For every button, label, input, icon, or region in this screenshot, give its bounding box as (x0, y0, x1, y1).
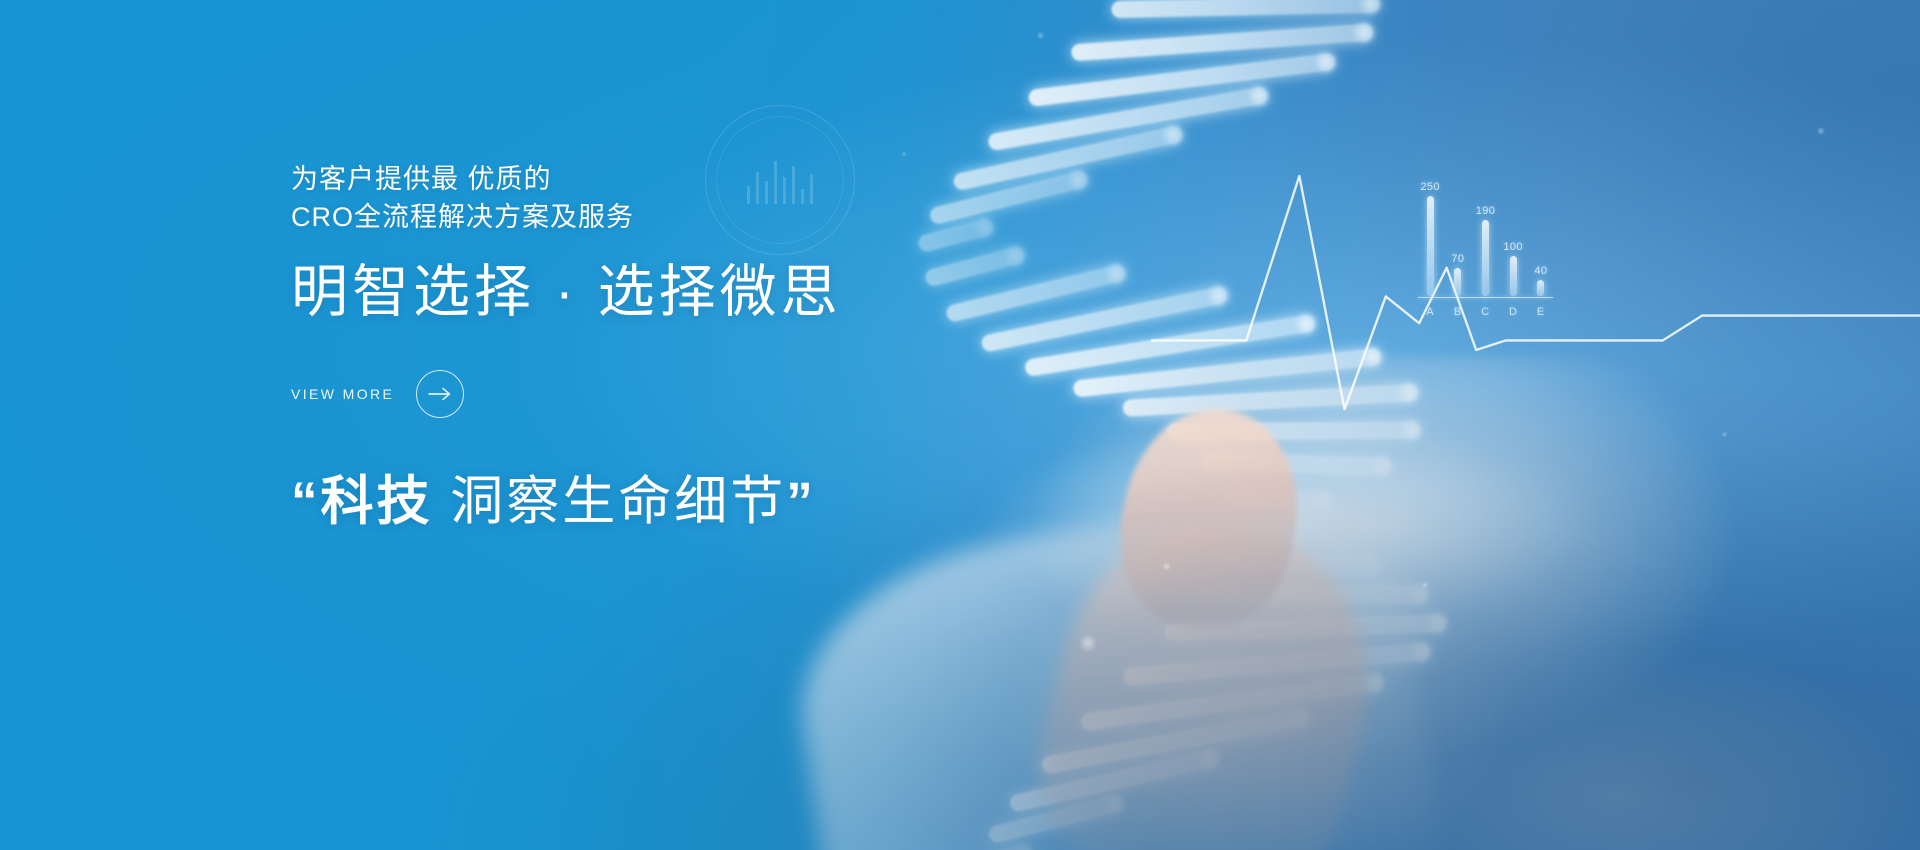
hero-subtitle: 为客户提供最 优质的 CRO全流程解决方案及服务 (291, 160, 1111, 237)
quote-light-text: 洞察生命细节 (433, 472, 787, 531)
bar-rect (1510, 256, 1517, 296)
bokeh-dot (1420, 580, 1430, 590)
chart-tick-label: B (1446, 306, 1470, 318)
arrow-right-icon[interactable] (416, 370, 464, 418)
bar-column: 100 (1501, 241, 1525, 296)
bar-rect (1427, 196, 1434, 296)
hero-banner: 2507019010040 ABCDE 为客户提供最 优质的 CRO全流程解决方… (0, 0, 1920, 850)
bar-value-label: 70 (1451, 253, 1464, 265)
bokeh-dot (1075, 630, 1101, 656)
chart-tick-label: C (1473, 306, 1497, 318)
quote-open-mark: “ (291, 472, 321, 531)
chart-tick-label: D (1501, 306, 1525, 318)
view-more-button[interactable]: VIEW MORE (291, 370, 464, 418)
chart-x-axis (1418, 297, 1553, 298)
hero-content: 为客户提供最 优质的 CRO全流程解决方案及服务 明智选择 · 选择微思 VIE… (291, 160, 1111, 533)
bar-value-label: 40 (1534, 265, 1547, 277)
bokeh-dot (1035, 30, 1046, 41)
bokeh-dot (900, 150, 908, 158)
bar-column: 70 (1446, 253, 1470, 296)
bar-column: 250 (1418, 181, 1442, 296)
quote-close-mark: ” (786, 472, 816, 531)
view-more-label: VIEW MORE (291, 386, 394, 402)
bar-rect (1537, 280, 1544, 296)
bar-rect (1482, 220, 1489, 296)
hero-quote: “科技 洞察生命细节” (291, 472, 1111, 533)
bar-value-label: 190 (1476, 205, 1496, 217)
bar-rect (1454, 268, 1461, 296)
quote-strong-text: 科技 (321, 472, 433, 531)
chart-tick-label: E (1529, 306, 1553, 318)
hero-headline: 明智选择 · 选择微思 (291, 261, 1111, 325)
chart-x-tick-labels: ABCDE (1418, 306, 1553, 318)
bokeh-dot (1160, 560, 1173, 573)
bar-value-label: 250 (1420, 181, 1440, 193)
chart-plot-area: 2507019010040 (1418, 176, 1553, 296)
bar-value-label: 100 (1503, 241, 1523, 253)
hud-bar-chart: 2507019010040 ABCDE (1418, 150, 1553, 318)
bar-column: 40 (1529, 265, 1553, 296)
bar-column: 190 (1473, 205, 1497, 296)
bokeh-dot (1815, 125, 1827, 137)
chart-tick-label: A (1418, 306, 1442, 318)
bokeh-dot (1720, 430, 1729, 439)
